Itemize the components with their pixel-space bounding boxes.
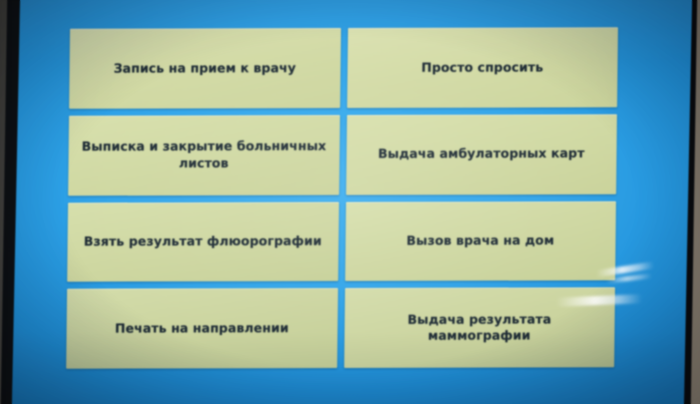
service-button-home-doctor-call[interactable]: Вызов врача на дом (345, 201, 616, 281)
service-button-label: Вызов врача на дом (406, 233, 554, 250)
service-button-label: Взять результат флюорографии (84, 233, 322, 250)
service-button-label: Выдача результата маммографии (354, 311, 605, 345)
service-button-just-ask[interactable]: Просто спросить (347, 27, 618, 107)
service-button-label: Выписка и закрытие больничных листов (78, 138, 329, 172)
service-button-fluorography-result[interactable]: Взять результат флюорографии (67, 202, 338, 282)
kiosk-photo: Запись на прием к врачу Просто спросить … (0, 0, 700, 404)
service-button-print-referral[interactable]: Печать на направлении (66, 288, 337, 368)
service-button-mammography-result[interactable]: Выдача результата маммографии (344, 288, 615, 368)
service-button-label: Запись на прием к врачу (114, 60, 297, 77)
service-button-outpatient-cards[interactable]: Выдача амбулаторных карт (346, 114, 617, 194)
service-button-doctor-appointment[interactable]: Запись на прием к врачу (69, 28, 340, 108)
service-button-label: Выдача амбулаторных карт (378, 146, 585, 163)
service-menu-grid: Запись на прием к врачу Просто спросить … (66, 27, 618, 368)
service-button-label: Просто спросить (421, 59, 543, 76)
service-button-sick-leave[interactable]: Выписка и закрытие больничных листов (68, 115, 339, 195)
kiosk-screen: Запись на прием к врачу Просто спросить … (12, 0, 693, 404)
service-button-label: Печать на направлении (115, 320, 289, 337)
